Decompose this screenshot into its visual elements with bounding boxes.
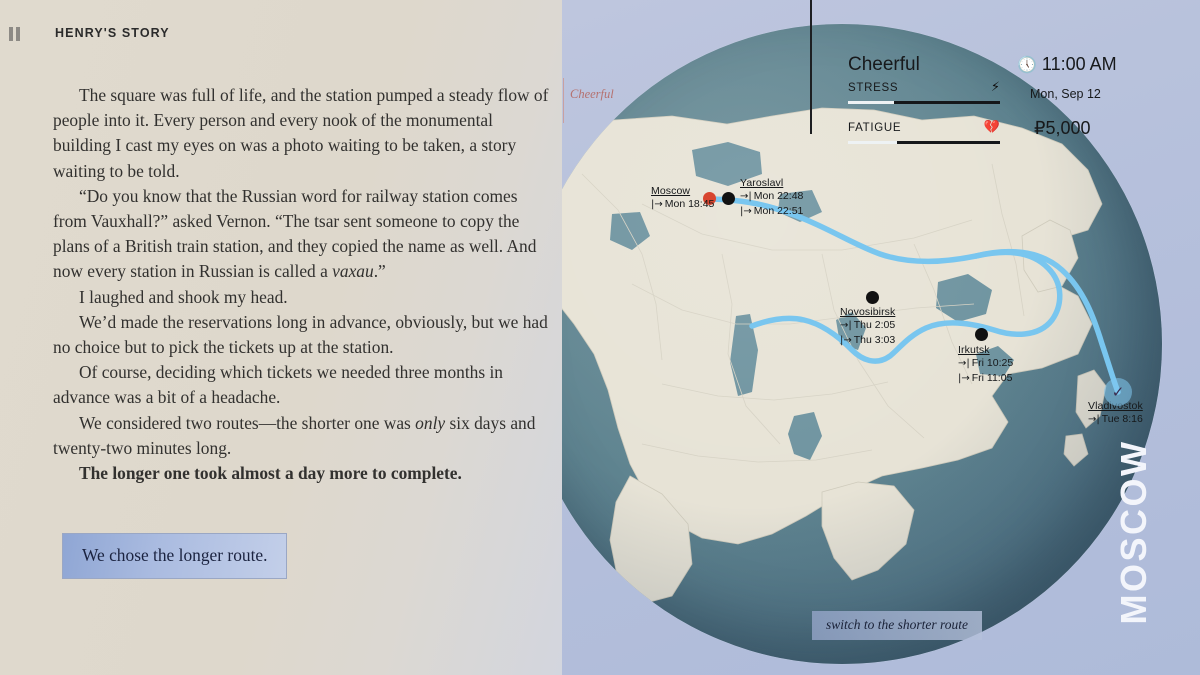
stress-fill: [848, 101, 894, 104]
depart-arrow-icon: |→: [958, 373, 970, 384]
station-depart-row: |→Fri 11:05: [958, 371, 1013, 386]
station-marker: [722, 192, 735, 205]
emphasis-word: only: [415, 413, 445, 433]
stress-meter: STRESS ⚡: [848, 82, 1000, 104]
station-marker: [866, 291, 879, 304]
foreign-word: vaxau: [332, 261, 374, 281]
station-depart-row: |→Thu 3:03: [840, 333, 895, 348]
stress-label: STRESS: [848, 82, 898, 94]
depart-arrow-icon: |→: [651, 199, 663, 210]
clock-icon: 🕔: [1017, 55, 1037, 74]
story-paragraph: “Do you know that the Russian word for r…: [53, 184, 551, 285]
story-paragraph: We considered two routes—the shorter one…: [53, 411, 551, 461]
story-paragraph: The square was full of life, and the sta…: [53, 83, 551, 184]
station-name: Yaroslavl: [740, 177, 803, 189]
station-arrive-row: →|Fri 10:25: [958, 356, 1013, 371]
current-city-vertical: MOSCOW: [1114, 417, 1154, 647]
story-paragraph: We’d made the reservations long in advan…: [53, 310, 551, 360]
status-hud: Cheerful STRESS ⚡ FATIGUE 💔 🕔11:00 AM Mo…: [812, 44, 1112, 144]
station-name: Novosibirsk: [840, 306, 895, 318]
depart-arrow-icon: |→: [840, 335, 852, 346]
broken-heart-icon: 💔: [984, 120, 1000, 135]
story-paragraph-highlight: The longer one took almost a day more to…: [53, 461, 551, 486]
fatigue-fill: [848, 141, 897, 144]
money-readout: ₽5,000: [1034, 118, 1091, 139]
mood-value: Cheerful: [848, 54, 920, 76]
arrive-arrow-icon: →|: [740, 191, 752, 202]
station-arrive-row: →|Mon 22:48: [740, 189, 803, 204]
story-paragraph: I laughed and shook my head.: [53, 285, 551, 310]
switch-route-button[interactable]: switch to the shorter route: [812, 611, 982, 640]
destination-check-icon: ✓: [1104, 378, 1132, 406]
clock-readout: 🕔11:00 AM: [1017, 54, 1117, 75]
mood-note: Cheerful: [570, 87, 614, 102]
station-name: Moscow: [651, 185, 714, 197]
station-depart-row: |→Mon 22:51: [740, 204, 803, 219]
story-paragraph: Of course, deciding which tickets we nee…: [53, 360, 551, 410]
arrive-arrow-icon: →|: [840, 320, 852, 331]
story-panel: HENRY'S STORY The square was full of lif…: [0, 0, 562, 675]
arrive-arrow-icon: →|: [1088, 414, 1100, 425]
choice-longer-route[interactable]: We chose the longer route.: [62, 533, 287, 579]
current-city-label: MOSCOW: [1113, 440, 1155, 625]
fatigue-label: FATIGUE: [848, 122, 901, 134]
top-bar: HENRY'S STORY: [0, 0, 562, 56]
story-text: The square was full of life, and the sta…: [53, 83, 551, 486]
date-readout: Mon, Sep 12: [1030, 87, 1101, 101]
clock-time: 11:00 AM: [1042, 54, 1117, 74]
fatigue-meter: FATIGUE 💔: [848, 122, 1000, 144]
lightning-icon: ⚡: [991, 80, 1000, 95]
page-title: HENRY'S STORY: [55, 26, 170, 40]
mood-accent-rule: [563, 78, 564, 123]
depart-arrow-icon: |→: [740, 206, 752, 217]
arrive-arrow-icon: →|: [958, 358, 970, 369]
pause-icon[interactable]: [9, 27, 23, 41]
station-depart-row: |→Mon 18:45: [651, 197, 714, 212]
station-name: Irkutsk: [958, 344, 1013, 356]
choice-list: We chose the longer route.: [62, 533, 287, 579]
station-arrive-row: →|Thu 2:05: [840, 318, 895, 333]
station-marker: [975, 328, 988, 341]
